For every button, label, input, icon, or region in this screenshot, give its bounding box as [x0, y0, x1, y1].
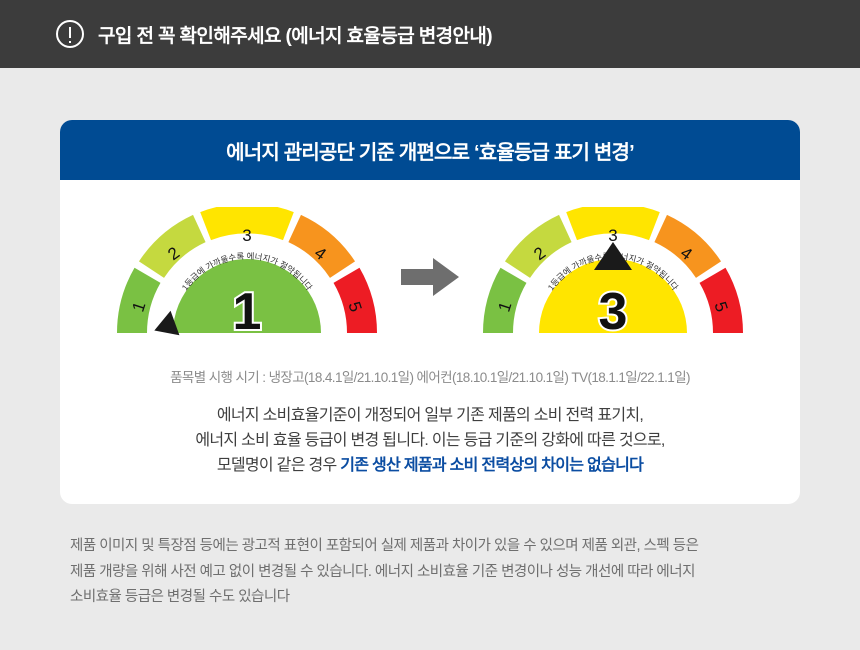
before-gauge-pointer-icon [150, 311, 180, 343]
before-grade-value: 1 [233, 283, 262, 341]
notice-bar: 구입 전 꼭 확인해주세요 (에너지 효율등급 변경안내) [0, 0, 860, 68]
disclaimer-line-3: 소비효율 등급은 변경될 수도 있습니다 [70, 585, 800, 610]
message-line-3: 모델명이 같은 경우 기존 생산 제품과 소비 전력상의 차이는 없습니다 [60, 454, 800, 479]
message-line-2: 에너지 소비 효율 등급이 변경 됩니다. 이는 등급 기준의 강화에 따른 것… [60, 429, 800, 454]
after-grade-value: 3 [599, 283, 628, 341]
message-line-1: 에너지 소비효율기준이 개정되어 일부 기존 제품의 소비 전력 표기치, [60, 404, 800, 429]
disclaimer-line-1: 제품 이미지 및 특장점 등에는 광고적 표현이 포함되어 실제 제품과 차이가… [70, 534, 800, 559]
right-arrow-icon [399, 255, 461, 299]
card-wrapper: 에너지 관리공단 기준 개편으로 ‘효율등급 표기 변경’ [0, 68, 860, 504]
gauge-comparison: 1 2 3 4 5 1등급에 가까울수록 에너지가 절약됩니다 [60, 202, 800, 352]
card-body: 1 2 3 4 5 1등급에 가까울수록 에너지가 절약됩니다 [60, 180, 800, 504]
segment-number-3: 3 [242, 226, 251, 245]
notice-title: 구입 전 꼭 확인해주세요 (에너지 효율등급 변경안내) [98, 21, 492, 48]
card-header: 에너지 관리공단 기준 개편으로 ‘효율등급 표기 변경’ [60, 120, 800, 180]
disclaimer-block: 제품 이미지 및 특장점 등에는 광고적 표현이 포함되어 실제 제품과 차이가… [0, 504, 860, 610]
energy-grade-card: 에너지 관리공단 기준 개편으로 ‘효율등급 표기 변경’ [60, 120, 800, 504]
message-block: 에너지 소비효율기준이 개정되어 일부 기존 제품의 소비 전력 표기치, 에너… [60, 404, 800, 478]
after-gauge: 1 2 3 4 5 1등급에 가까울수록 에너지가 절약됩니다 3 [479, 207, 747, 347]
disclaimer-line-2: 제품 개량을 위해 사전 예고 없이 변경될 수 있습니다. 에너지 소비효율 … [70, 560, 800, 585]
exclamation-circle-icon [56, 20, 84, 48]
schedule-note: 품목별 시행 시기 : 냉장고(18.4.1일/21.10.1일) 에어컨(18… [60, 366, 800, 386]
card-header-title: 에너지 관리공단 기준 개편으로 ‘효율등급 표기 변경’ [226, 136, 634, 165]
before-gauge: 1 2 3 4 5 1등급에 가까울수록 에너지가 절약됩니다 [113, 207, 381, 347]
message-line-3-plain: 모델명이 같은 경우 [217, 457, 340, 474]
message-line-3-accent: 기존 생산 제품과 소비 전력상의 차이는 없습니다 [340, 457, 643, 474]
